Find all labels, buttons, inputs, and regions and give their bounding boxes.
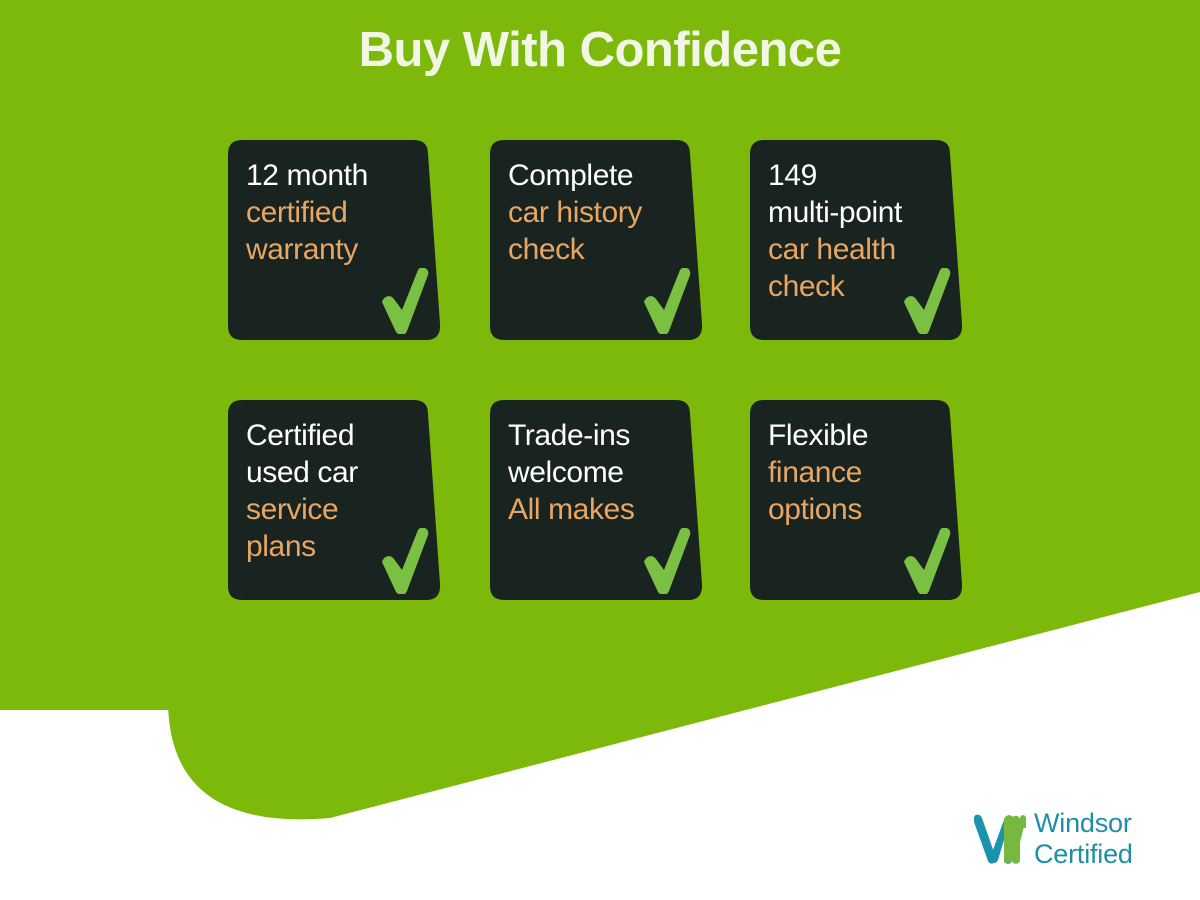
check-tick-icon [640,268,694,334]
benefit-card[interactable]: Trade-ins welcome All makes [490,400,705,600]
card-line: used car [246,454,426,491]
card-line: finance [768,454,948,491]
benefit-card[interactable]: Complete car history check [490,140,705,340]
card-line: warranty [246,231,426,268]
card-line: car history [508,194,688,231]
card-text-block: Trade-ins welcome All makes [508,417,688,528]
benefit-card[interactable]: 149 multi-point car health check [750,140,965,340]
logo-line-2: Certified [1034,839,1133,870]
benefits-grid: 12 month certified warranty Complete car… [228,140,988,660]
poster-canvas: Buy With Confidence 12 month certified w… [0,0,1200,900]
benefit-card[interactable]: Flexible finance options [750,400,965,600]
card-line: All makes [508,491,688,528]
card-line: Trade-ins [508,417,688,454]
card-line: multi-point [768,194,948,231]
card-line: service [246,491,426,528]
benefit-card[interactable]: Certified used car service plans [228,400,443,600]
page-title: Buy With Confidence [0,22,1200,78]
card-line: welcome [508,454,688,491]
windsor-certified-logo: Windsor Certified [968,808,1158,876]
card-line: Certified [246,417,426,454]
card-line: car health [768,231,948,268]
card-line: check [508,231,688,268]
logo-line-1: Windsor [1034,808,1132,838]
benefits-row-1: 12 month certified warranty Complete car… [228,140,988,400]
check-tick-icon [378,268,432,334]
check-tick-icon [900,528,954,594]
check-tick-icon [900,268,954,334]
check-tick-icon [378,528,432,594]
card-line: options [768,491,948,528]
card-line: 149 [768,157,948,194]
card-text-block: Complete car history check [508,157,688,268]
card-text-block: Flexible finance options [768,417,948,528]
card-line: 12 month [246,157,426,194]
windsor-w-mark-icon [968,810,1030,872]
check-tick-icon [640,528,694,594]
logo-wordmark: Windsor Certified [1034,808,1133,870]
card-text-block: 12 month certified warranty [246,157,426,268]
card-line: certified [246,194,426,231]
card-line: Flexible [768,417,948,454]
card-line: Complete [508,157,688,194]
benefit-card[interactable]: 12 month certified warranty [228,140,443,340]
benefits-row-2: Certified used car service plans Trade-i… [228,400,988,660]
